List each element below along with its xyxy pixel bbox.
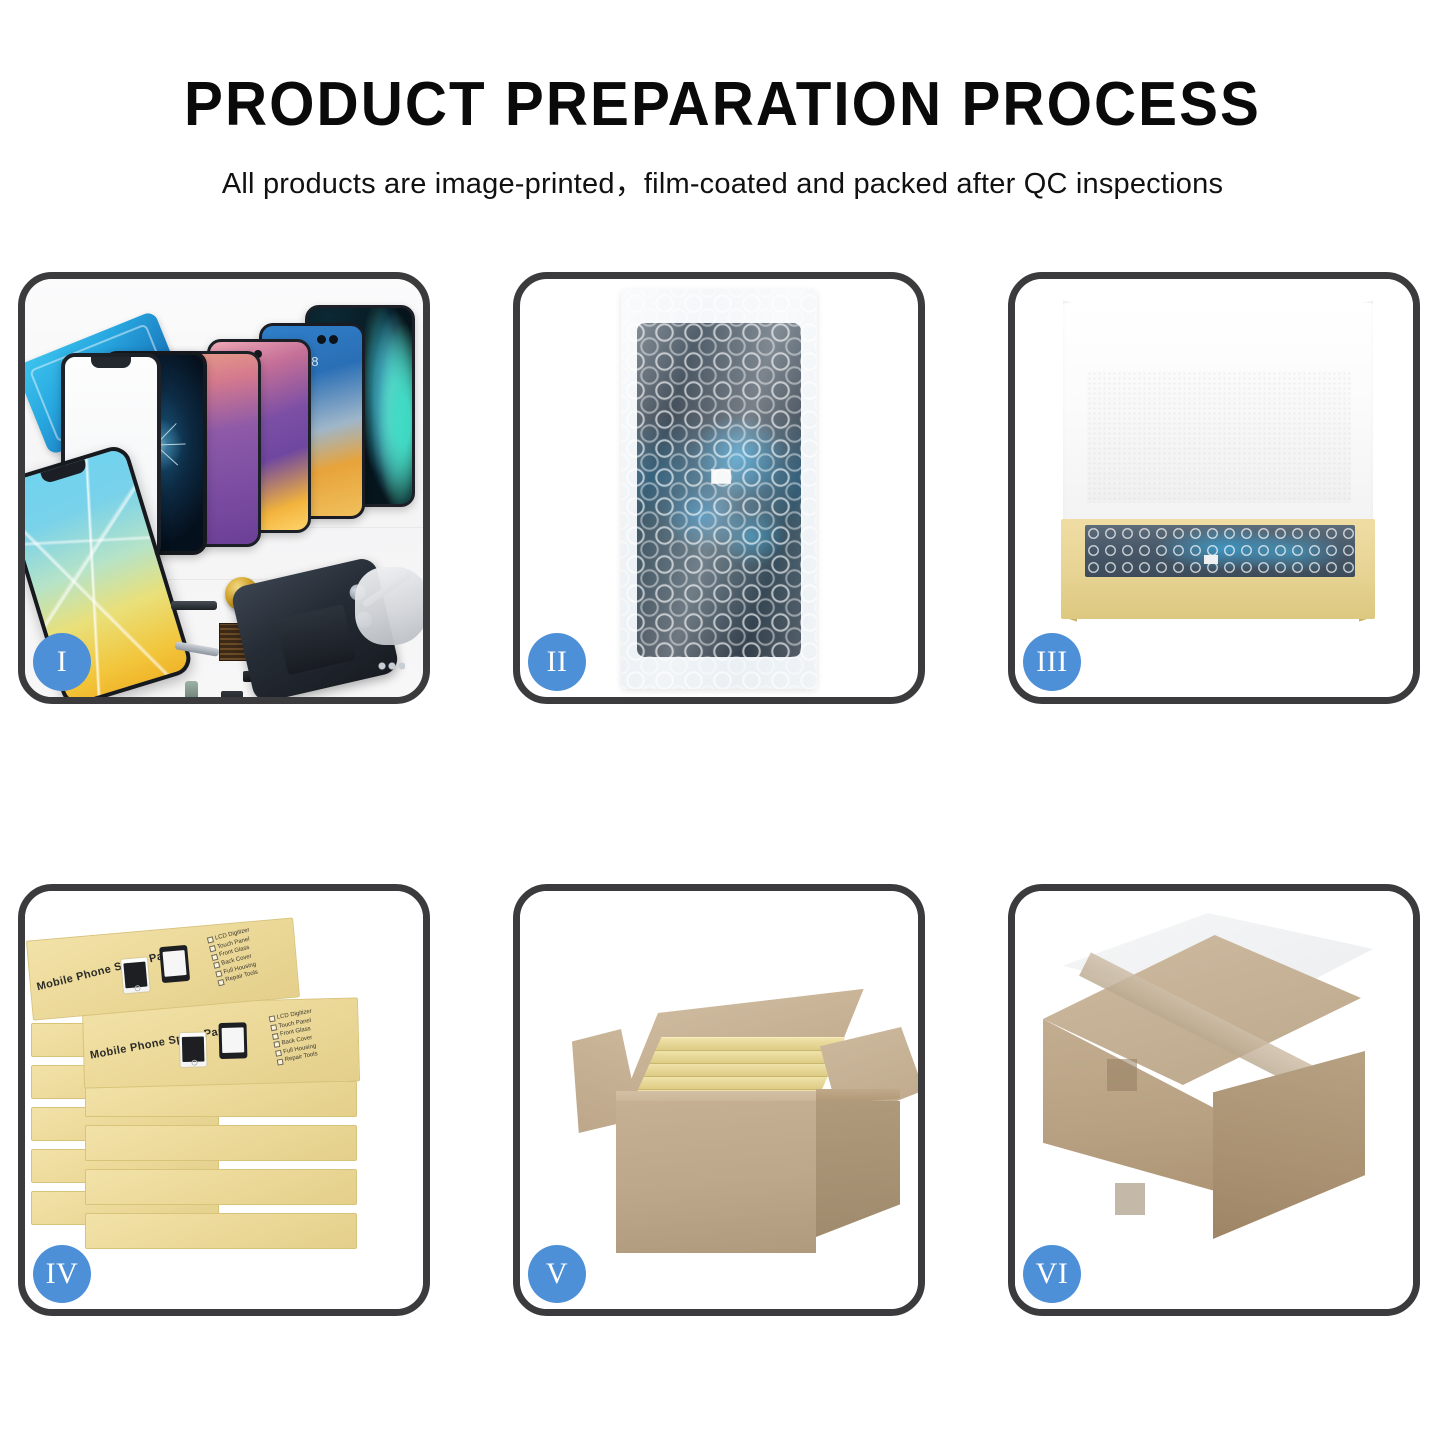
process-step-panel-6: VI (1008, 884, 1420, 1316)
box-window-screen-2 (218, 1022, 247, 1059)
glove-graphic (355, 567, 423, 645)
vibrator-part-graphic (221, 691, 243, 697)
step-1-illustration: 08:08 Monday (25, 279, 423, 697)
step-badge-1: I (33, 633, 91, 691)
bubble-texture (1085, 525, 1355, 577)
punch-hole-camera-icon (317, 335, 326, 344)
step-2-illustration (520, 279, 918, 697)
process-step-panel-3: III (1008, 272, 1420, 704)
tape-patch-lower (1115, 1183, 1145, 1215)
step-badge-6: VI (1023, 1245, 1081, 1303)
retail-box-stack-item (85, 1125, 357, 1161)
speaker-part-graphic (171, 601, 217, 610)
plastic-sheen-overlay (621, 289, 817, 689)
carton-front-face (616, 1101, 816, 1253)
step-badge-4: IV (33, 1245, 91, 1303)
step-4-illustration: Mobile Phone Spare Parts LCD Digitizer T… (25, 891, 423, 1309)
retail-box-stack-item (85, 1213, 357, 1249)
page-subtitle: All products are image-printed，film-coat… (0, 160, 1445, 202)
bubble-wrap-package-graphic (621, 289, 817, 689)
notch-icon (91, 357, 131, 368)
box-window-screen-2 (159, 945, 190, 983)
process-step-panel-1: 08:08 Monday (18, 272, 430, 704)
process-step-panel-2: II (513, 272, 925, 704)
package-label-sticker (1204, 555, 1218, 564)
step-3-illustration (1015, 279, 1413, 697)
screws-graphic (377, 661, 405, 671)
wrapped-screen-in-box-graphic (1085, 525, 1355, 577)
tape-patch-upper (1107, 1059, 1137, 1091)
step-badge-3: III (1023, 633, 1081, 691)
step-badge-5: V (528, 1245, 586, 1303)
sim-tray-part-graphic (185, 681, 198, 697)
page-title: PRODUCT PREPARATION PROCESS (43, 74, 1401, 136)
process-step-grid: 08:08 Monday (18, 272, 1428, 1316)
header: PRODUCT PREPARATION PROCESS All products… (0, 0, 1445, 202)
retail-box-checklist: LCD Digitizer Touch Panel Front Glass Ba… (268, 1008, 320, 1067)
box-window-screen-1 (120, 956, 151, 994)
carton-side-face (816, 1101, 900, 1237)
step-5-illustration (520, 891, 918, 1309)
step-6-illustration (1015, 891, 1413, 1309)
process-step-panel-5: V (513, 884, 925, 1316)
sealed-carton-side-face (1213, 1051, 1365, 1239)
battery-graphic (276, 604, 355, 674)
process-step-panel-4: Mobile Phone Spare Parts LCD Digitizer T… (18, 884, 430, 1316)
foam-insert-graphic (1087, 371, 1351, 503)
box-window-screen-1 (179, 1031, 208, 1068)
step-badge-2: II (528, 633, 586, 691)
retail-box-stack-item (85, 1169, 357, 1205)
